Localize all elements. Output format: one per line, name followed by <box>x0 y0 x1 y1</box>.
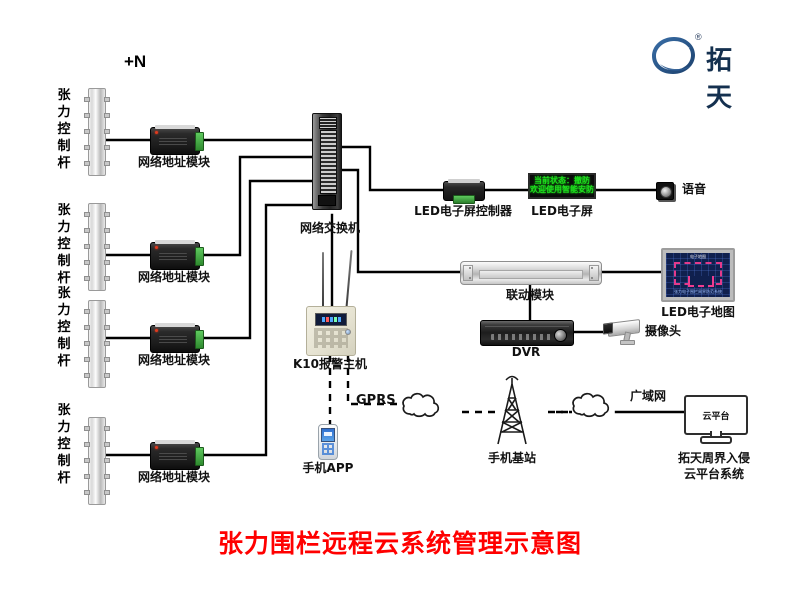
led-map-screen-top-text: 电子地图 <box>666 254 730 260</box>
cloud-platform-monitor-icon: 云平台 <box>684 395 744 441</box>
network-switch-icon <box>312 113 342 210</box>
plus-n-label: +N <box>124 52 146 72</box>
led-screen-label: LED电子屏 <box>531 205 593 219</box>
tension-pole-1 <box>88 88 106 176</box>
tension-pole-3 <box>88 300 106 388</box>
pole-label-4: 张力控制杆 <box>56 403 72 487</box>
tension-pole-2 <box>88 203 106 291</box>
cloud-platform-screen-text: 云平台 <box>702 409 729 422</box>
camera-icon <box>602 319 642 345</box>
dvr-label: DVR <box>512 346 541 360</box>
alarm-host-icon <box>306 306 356 356</box>
linkage-module-label: 联动模块 <box>506 289 554 303</box>
network-address-module-3 <box>150 325 200 353</box>
cloud-icon-gprs <box>403 394 438 417</box>
pole-label-3: 张力控制杆 <box>56 286 72 370</box>
dvr-icon <box>480 320 574 346</box>
tuotian-swoosh-logo-icon <box>648 34 700 78</box>
pole-label-2: 张力控制杆 <box>56 203 72 287</box>
led-controller-label: LED电子屏控制器 <box>414 205 512 219</box>
network-address-module-1 <box>150 127 200 155</box>
wan-label: 广域网 <box>630 390 666 404</box>
led-map-monitor-icon: 电子地图 张力电子围栏周界防范系统 <box>661 248 735 302</box>
module-label-4: 网络地址模块 <box>138 471 210 485</box>
speaker-icon <box>656 182 674 200</box>
base-station-label: 手机基站 <box>488 452 536 466</box>
tension-pole-4 <box>88 417 106 505</box>
voice-label: 语音 <box>682 183 706 197</box>
antenna-left-icon <box>322 252 324 308</box>
diagram-canvas: +N 张力控制杆 网络地址模块 张力控制杆 网络地址模块 张力控制杆 <box>0 0 800 600</box>
alarm-host-label: K10报警主机 <box>293 358 367 372</box>
cloud-icon-wan <box>573 394 608 417</box>
network-address-module-4 <box>150 442 200 470</box>
led-map-label: LED电子地图 <box>661 306 735 320</box>
brand-name: 拓天 <box>706 40 734 114</box>
cloud-platform-label-1: 拓天周界入侵 <box>678 452 750 466</box>
module-label-3: 网络地址模块 <box>138 354 210 368</box>
camera-label: 摄像头 <box>645 325 681 339</box>
switch-label: 网络交换机 <box>300 222 360 236</box>
network-address-module-2 <box>150 242 200 270</box>
registered-mark: ® <box>695 32 702 42</box>
module-label-2: 网络地址模块 <box>138 271 210 285</box>
antenna-right-icon <box>345 250 352 308</box>
cloud-platform-label-2: 云平台系统 <box>684 468 744 482</box>
mobile-phone-icon <box>318 424 338 460</box>
diagram-title: 张力围栏远程云系统管理示意图 <box>0 524 800 560</box>
led-screen-icon: 当前状态：撤防 欢迎使用智能安防 <box>528 173 596 199</box>
cell-tower-icon <box>498 377 526 445</box>
pole-label-1: 张力控制杆 <box>56 88 72 172</box>
led-screen-line-2: 欢迎使用智能安防 <box>530 186 594 195</box>
phone-app-label: 手机APP <box>303 462 354 476</box>
gprs-label: GPRS <box>356 394 396 409</box>
led-controller-icon <box>443 181 485 201</box>
led-map-screen-caption: 张力电子围栏周界防范系统 <box>666 289 730 295</box>
linkage-module-icon <box>460 261 602 285</box>
module-label-1: 网络地址模块 <box>138 156 210 170</box>
